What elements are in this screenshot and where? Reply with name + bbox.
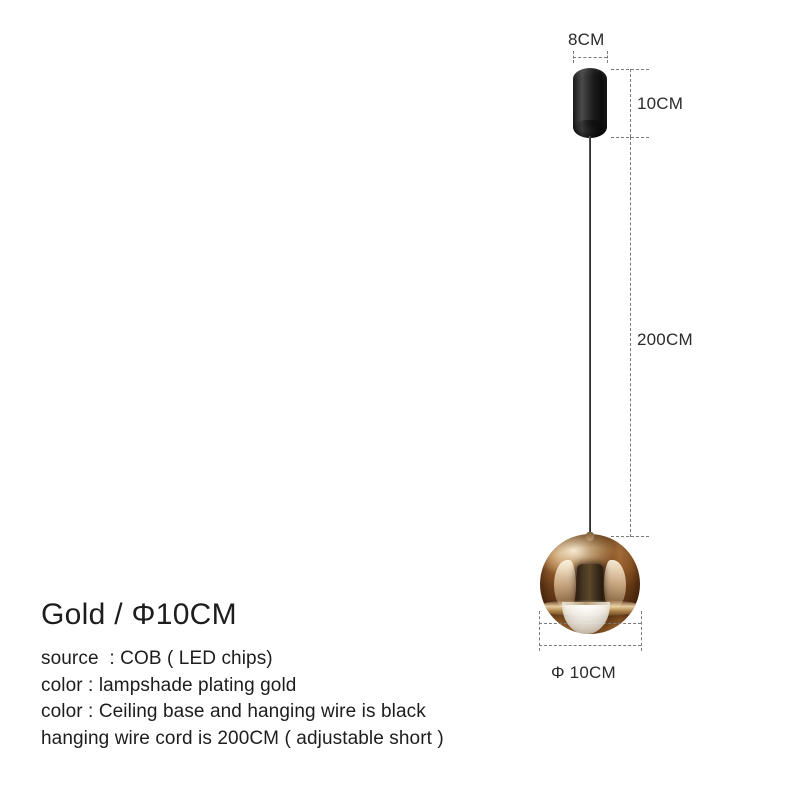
dimension-line-canopy-height [630, 69, 631, 137]
dimension-tick-canopy-width-right [607, 51, 608, 63]
spec-line-source: source : COB ( LED chips) [41, 646, 561, 673]
spec-line-base-color: color : Ceiling base and hanging wire is… [41, 699, 561, 726]
dimension-label-cord-length: 200CM [637, 330, 693, 350]
product-title: Gold / Φ10CM [41, 600, 561, 630]
dimension-label-canopy-height: 10CM [637, 94, 683, 114]
globe-glass-seam [564, 602, 608, 605]
dimension-line-canopy-width [573, 57, 607, 58]
spec-line-shade-color: color : lampshade plating gold [41, 673, 561, 700]
dimension-tick-globe-diameter-right [641, 611, 642, 651]
dimension-label-canopy-width: 8CM [568, 30, 605, 50]
ceiling-canopy-icon [573, 68, 607, 138]
product-spec-canvas: 8CM 10CM 200CM Φ 10CM Gold / Φ10CM [0, 0, 800, 800]
spec-line-cord-length: hanging wire cord is 200CM ( adjustable … [41, 726, 561, 753]
hanging-cord-icon [589, 136, 591, 536]
dimension-tick-canopy-width-left [573, 51, 574, 63]
product-description: Gold / Φ10CM source : COB ( LED chips) c… [41, 600, 561, 752]
dimension-line-cord-length [630, 137, 631, 537]
globe-cord-entry [586, 532, 594, 541]
